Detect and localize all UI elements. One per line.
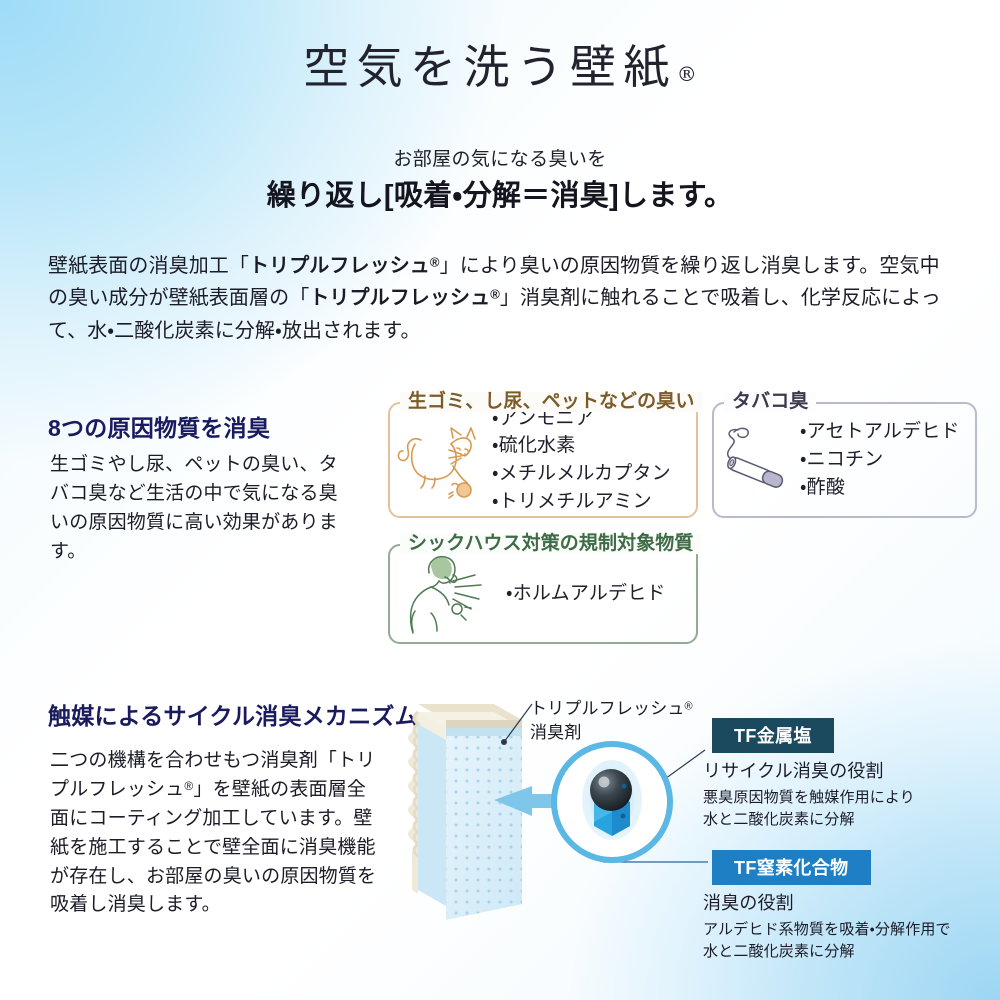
panel-content: アセトアルデヒド ニコチン 酢酸 — [712, 402, 977, 518]
cigarette-icon — [712, 420, 800, 500]
coughing-person-icon — [388, 551, 506, 637]
panel-content: ホルムアルデヒド — [388, 544, 698, 644]
diagram-callout-triple-fresh: トリプルフレッシュ® 消臭剤 — [530, 697, 693, 745]
list-item: 硫化水素 — [492, 432, 671, 460]
panel-legend: 生ゴミ、し尿、ペットなどの臭い — [400, 392, 702, 412]
page-title-text: 空気を洗う壁紙 — [303, 40, 677, 94]
callout-sub: 消臭剤 — [530, 723, 582, 742]
detail-text: 悪臭原因物質を触媒作用により 水と二酸化炭素に分解 — [703, 787, 993, 830]
badge-tf-metal-salt: TF金属塩 — [712, 718, 834, 753]
intro-paragraph: 壁紙表面の消臭加工「トリプルフレッシュ®」により臭いの原因物質を繰り返し消臭しま… — [48, 250, 953, 347]
panel-content: アンモニア 硫化水素 メチルメルカプタン トリメチルアミン — [388, 402, 698, 518]
registered-mark-icon: ® — [430, 255, 440, 270]
panel-item-list: ホルムアルデヒド — [506, 580, 666, 608]
role-text: リサイクル消臭の役割 — [703, 760, 993, 783]
section-2-heading: 触媒によるサイクル消臭メカニズム — [48, 697, 418, 731]
callout-brand: トリプルフレッシュ — [530, 699, 685, 718]
panel-sickhouse-substances: シックハウス対策の規制対象物質 — [388, 534, 698, 644]
registered-mark-icon: ® — [490, 287, 500, 302]
section-2-body: 二つの機構を合わせもつ消臭剤「トリプルフレッシュ®」を壁紙の表面層全面にコーティ… — [50, 747, 380, 920]
section-1-heading: 8つの原因物質を消臭 — [48, 409, 270, 443]
list-item: ニコチン — [800, 446, 960, 474]
role-text: 消臭の役割 — [703, 892, 1000, 915]
panel-waste-odor: 生ゴミ、し尿、ペットなどの臭い — [388, 392, 698, 518]
registered-mark-icon: ® — [677, 62, 697, 86]
page-title: 空気を洗う壁紙® — [0, 44, 1000, 90]
list-item: 酢酸 — [800, 474, 960, 502]
desc-tf-metal-salt: リサイクル消臭の役割 悪臭原因物質を触媒作用により 水と二酸化炭素に分解 — [703, 760, 993, 830]
intro-brand-2: トリプルフレッシュ — [309, 287, 490, 309]
panel-item-list: アンモニア 硫化水素 メチルメルカプタン トリメチルアミン — [492, 405, 671, 516]
detail-text: アルデヒド系物質を吸着・分解作用で 水と二酸化炭素に分解 — [703, 919, 1000, 962]
intro-brand-1: トリプルフレッシュ — [249, 255, 430, 277]
section-1-body: 生ゴミやし尿、ペットの臭い、タバコ臭など生活の中で気になる臭いの原因物質に高い効… — [50, 451, 350, 567]
panel-legend: タバコ臭 — [724, 392, 816, 412]
intro-part-1: 壁紙表面の消臭加工「 — [48, 255, 249, 277]
list-item: メチルメルカプタン — [492, 460, 671, 488]
badge-tf-nitrogen-compound: TF窒素化合物 — [712, 850, 871, 885]
panel-legend: シックハウス対策の規制対象物質 — [400, 534, 701, 554]
list-item: トリメチルアミン — [492, 488, 671, 516]
list-item: ホルムアルデヒド — [506, 580, 666, 608]
cat-icon — [388, 420, 492, 500]
panel-tobacco-odor: タバコ臭 アセトアルデヒド ニコチン 酢酸 — [712, 392, 977, 518]
lead-line-2: 繰り返し[吸着・分解＝消臭]します。 — [0, 172, 1000, 214]
list-item: アセトアルデヒド — [800, 418, 960, 446]
panel-item-list: アセトアルデヒド ニコチン 酢酸 — [800, 418, 960, 501]
lead-line-1: お部屋の気になる臭いを — [0, 144, 1000, 171]
page-root: 空気を洗う壁紙® お部屋の気になる臭いを 繰り返し[吸着・分解＝消臭]します。 … — [0, 0, 1000, 1000]
registered-mark-icon: ® — [685, 700, 693, 712]
desc-tf-nitrogen-compound: 消臭の役割 アルデヒド系物質を吸着・分解作用で 水と二酸化炭素に分解 — [703, 892, 1000, 962]
